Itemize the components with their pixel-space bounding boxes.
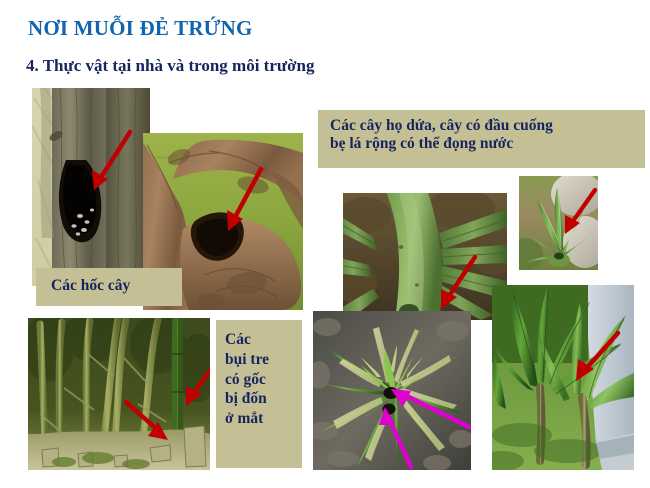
callout-tree-holes-text: Các hốc cây bbox=[36, 268, 182, 306]
tree-trunk-artwork bbox=[32, 88, 150, 286]
photo-banana-plants bbox=[492, 285, 634, 470]
agave-artwork bbox=[343, 193, 507, 320]
slide-subtitle: 4. Thực vật tại nhà và trong môi trường bbox=[26, 56, 314, 76]
bamboo-grove-artwork bbox=[28, 318, 210, 470]
photo-agave-leaf-base bbox=[343, 193, 507, 320]
banana-plants-artwork bbox=[492, 285, 634, 470]
photo-aloe-plant bbox=[519, 176, 598, 270]
photo-tree-trunk-hollow bbox=[32, 88, 150, 286]
aloe-artwork bbox=[519, 176, 598, 270]
callout-bromeliad-text: Các cây họ dứa, cây có đầu cuống bẹ lá r… bbox=[318, 110, 645, 168]
callout-bamboo-line1: Các bbox=[225, 330, 302, 350]
page-title: NƠI MUỖI ĐẺ TRỨNG bbox=[28, 16, 253, 41]
callout-bamboo-line4: bị đốn bbox=[225, 389, 302, 409]
callout-bamboo-text: Các bụi tre có gốc bị đốn ở mắt bbox=[216, 320, 302, 468]
callout-bromeliad-line1: Các cây họ dứa, cây có đầu cuống bbox=[330, 117, 645, 135]
photo-bromeliad-rosette bbox=[313, 311, 471, 470]
callout-bromeliad-line2: bẹ lá rộng có thể đọng nước bbox=[330, 135, 645, 153]
photo-bamboo-grove bbox=[28, 318, 210, 470]
callout-tree-holes-line1: Các hốc cây bbox=[51, 277, 182, 295]
callout-bamboo-line5: ở mắt bbox=[225, 409, 302, 429]
callout-bamboo-line2: bụi tre bbox=[225, 350, 302, 370]
callout-bamboo-line3: có gốc bbox=[225, 370, 302, 390]
bromeliad-artwork bbox=[313, 311, 471, 470]
